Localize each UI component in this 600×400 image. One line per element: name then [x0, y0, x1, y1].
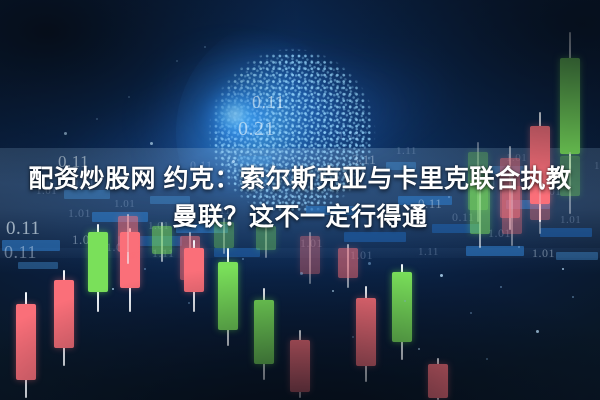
headline-line-1: 配资炒股网 约克：索尔斯克亚与卡里克联合执教: [8, 160, 592, 198]
banner-image: 0.110.110.111.011.111.011.011.011.011.01…: [0, 0, 600, 400]
headline: 配资炒股网 约克：索尔斯克亚与卡里克联合执教 曼联？这不一定行得通: [0, 160, 600, 236]
headline-line-2: 曼联？这不一定行得通: [8, 198, 592, 236]
